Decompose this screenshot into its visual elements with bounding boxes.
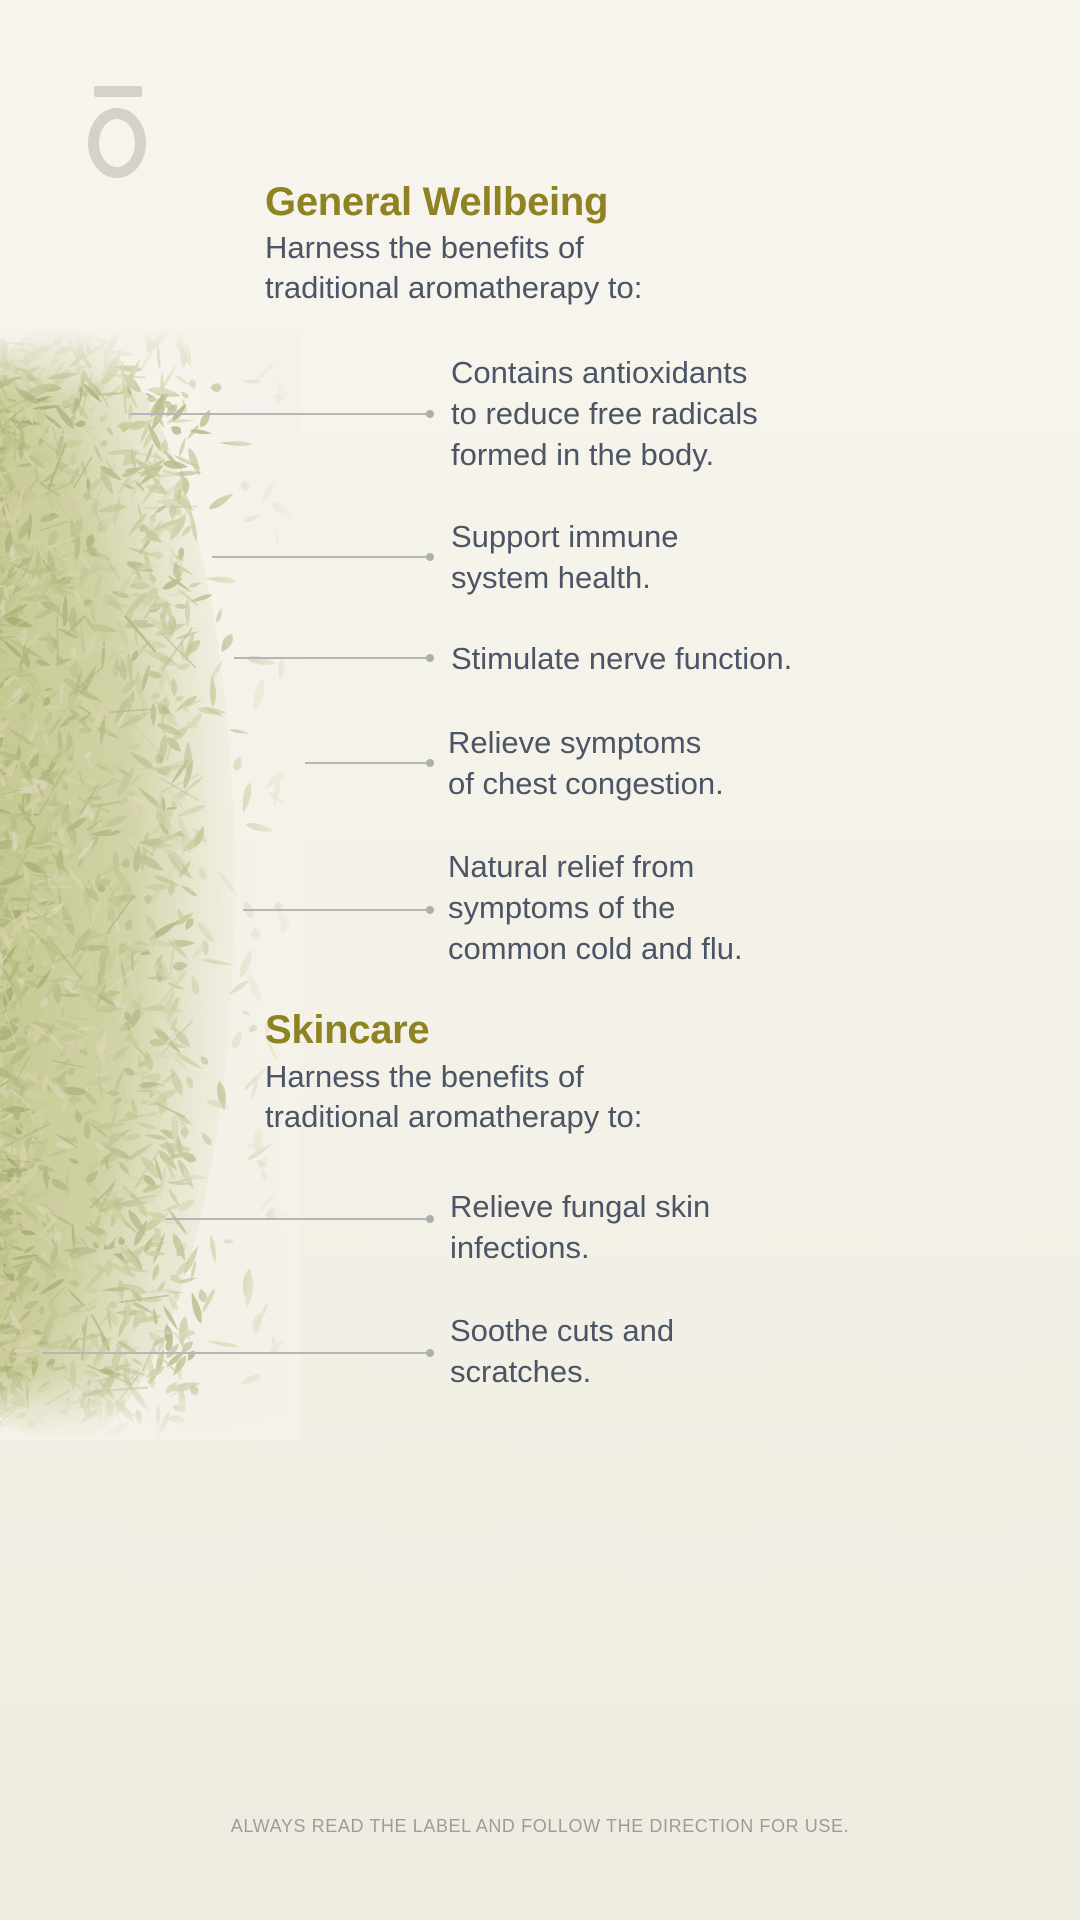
section-subheading-general-wellbeing: Harness the benefits of traditional arom…: [265, 228, 642, 308]
logo-o-icon: [88, 108, 146, 178]
bullet-line: Support immune: [451, 516, 678, 557]
bullet-gw-2: Support immune system health.: [451, 516, 678, 598]
logo-macron-icon: [94, 86, 142, 97]
bullet-line: Relieve symptoms: [448, 722, 724, 763]
bullet-line: common cold and flu.: [448, 928, 743, 969]
bullet-line: system health.: [451, 557, 678, 598]
bullet-gw-5: Natural relief from symptoms of the comm…: [448, 846, 743, 969]
leader-line-gw-2: [212, 556, 430, 558]
bullet-line: infections.: [450, 1227, 710, 1268]
leader-dot-icon: [426, 1349, 434, 1357]
dried-herb-image: [0, 330, 300, 1440]
bullet-line: Relieve fungal skin: [450, 1186, 710, 1227]
leader-dot-icon: [426, 1215, 434, 1223]
leader-line-gw-4: [305, 762, 430, 764]
leader-dot-icon: [426, 906, 434, 914]
subheading-line-2: traditional aromatherapy to:: [265, 268, 642, 308]
bullet-line: to reduce free radicals: [451, 393, 758, 434]
footer-disclaimer: ALWAYS READ THE LABEL AND FOLLOW THE DIR…: [0, 1816, 1080, 1837]
leader-dot-icon: [426, 553, 434, 561]
leader-line-gw-3: [234, 657, 430, 659]
leader-line-sk-2: [42, 1352, 430, 1354]
leader-line-gw-1: [130, 413, 430, 415]
leader-line-sk-1: [165, 1218, 430, 1220]
leader-dot-icon: [426, 654, 434, 662]
leader-dot-icon: [426, 410, 434, 418]
subheading-line-1: Harness the benefits of: [265, 228, 642, 268]
bullet-line: Contains antioxidants: [451, 352, 758, 393]
section-subheading-skincare: Harness the benefits of traditional arom…: [265, 1057, 642, 1137]
subheading-line-1: Harness the benefits of: [265, 1057, 642, 1097]
bullet-line: Natural relief from: [448, 846, 743, 887]
bullet-line: scratches.: [450, 1351, 674, 1392]
bullet-gw-4: Relieve symptoms of chest congestion.: [448, 722, 724, 804]
section-heading-general-wellbeing: General Wellbeing: [265, 180, 608, 225]
subheading-line-2: traditional aromatherapy to:: [265, 1097, 642, 1137]
bullet-sk-2: Soothe cuts and scratches.: [450, 1310, 674, 1392]
bullet-line: formed in the body.: [451, 434, 758, 475]
bullet-gw-3: Stimulate nerve function.: [451, 638, 792, 679]
bullet-line: Soothe cuts and: [450, 1310, 674, 1351]
bullet-line: symptoms of the: [448, 887, 743, 928]
leader-line-gw-5: [243, 909, 430, 911]
bullet-line: of chest congestion.: [448, 763, 724, 804]
bullet-line: Stimulate nerve function.: [451, 638, 792, 679]
section-heading-skincare: Skincare: [265, 1008, 429, 1053]
infographic-page: General Wellbeing Harness the benefits o…: [0, 0, 1080, 1920]
bullet-sk-1: Relieve fungal skin infections.: [450, 1186, 710, 1268]
bullet-gw-1: Contains antioxidants to reduce free rad…: [451, 352, 758, 475]
leader-dot-icon: [426, 759, 434, 767]
brand-logo: [88, 78, 158, 183]
